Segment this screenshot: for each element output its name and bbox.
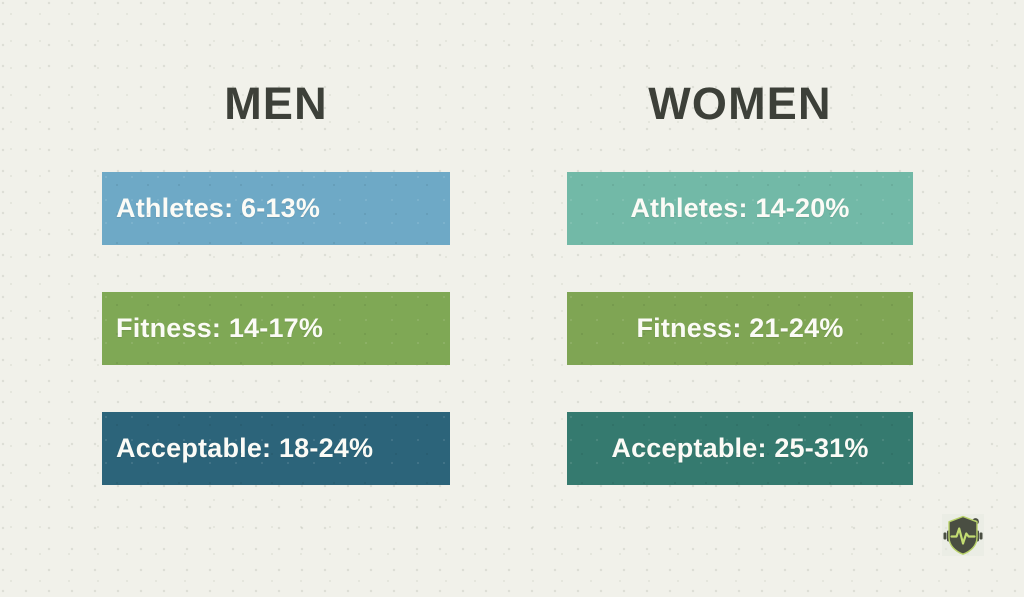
bar-men-fitness: Fitness: 14-17%: [102, 292, 450, 365]
brand-logo: [938, 510, 988, 560]
body-fat-infographic: MEN WOMEN Athletes: 6-13% Fitness: 14-17…: [0, 0, 1024, 597]
bar-women-fitness: Fitness: 21-24%: [567, 292, 913, 365]
bar-label-women-fitness: Fitness: 21-24%: [636, 313, 843, 344]
bar-label-men-athletes: Athletes: 6-13%: [116, 193, 320, 224]
bar-women-acceptable: Acceptable: 25-31%: [567, 412, 913, 485]
column-header-women: WOMEN: [567, 76, 913, 132]
bar-label-men-acceptable: Acceptable: 18-24%: [116, 433, 373, 464]
bar-label-women-acceptable: Acceptable: 25-31%: [611, 433, 868, 464]
bar-label-women-athletes: Athletes: 14-20%: [630, 193, 849, 224]
column-header-men: MEN: [102, 76, 450, 132]
bar-label-men-fitness: Fitness: 14-17%: [116, 313, 323, 344]
shield-heartbeat-dumbbell-icon: [938, 510, 988, 560]
bar-men-athletes: Athletes: 6-13%: [102, 172, 450, 245]
bar-men-acceptable: Acceptable: 18-24%: [102, 412, 450, 485]
bar-women-athletes: Athletes: 14-20%: [567, 172, 913, 245]
